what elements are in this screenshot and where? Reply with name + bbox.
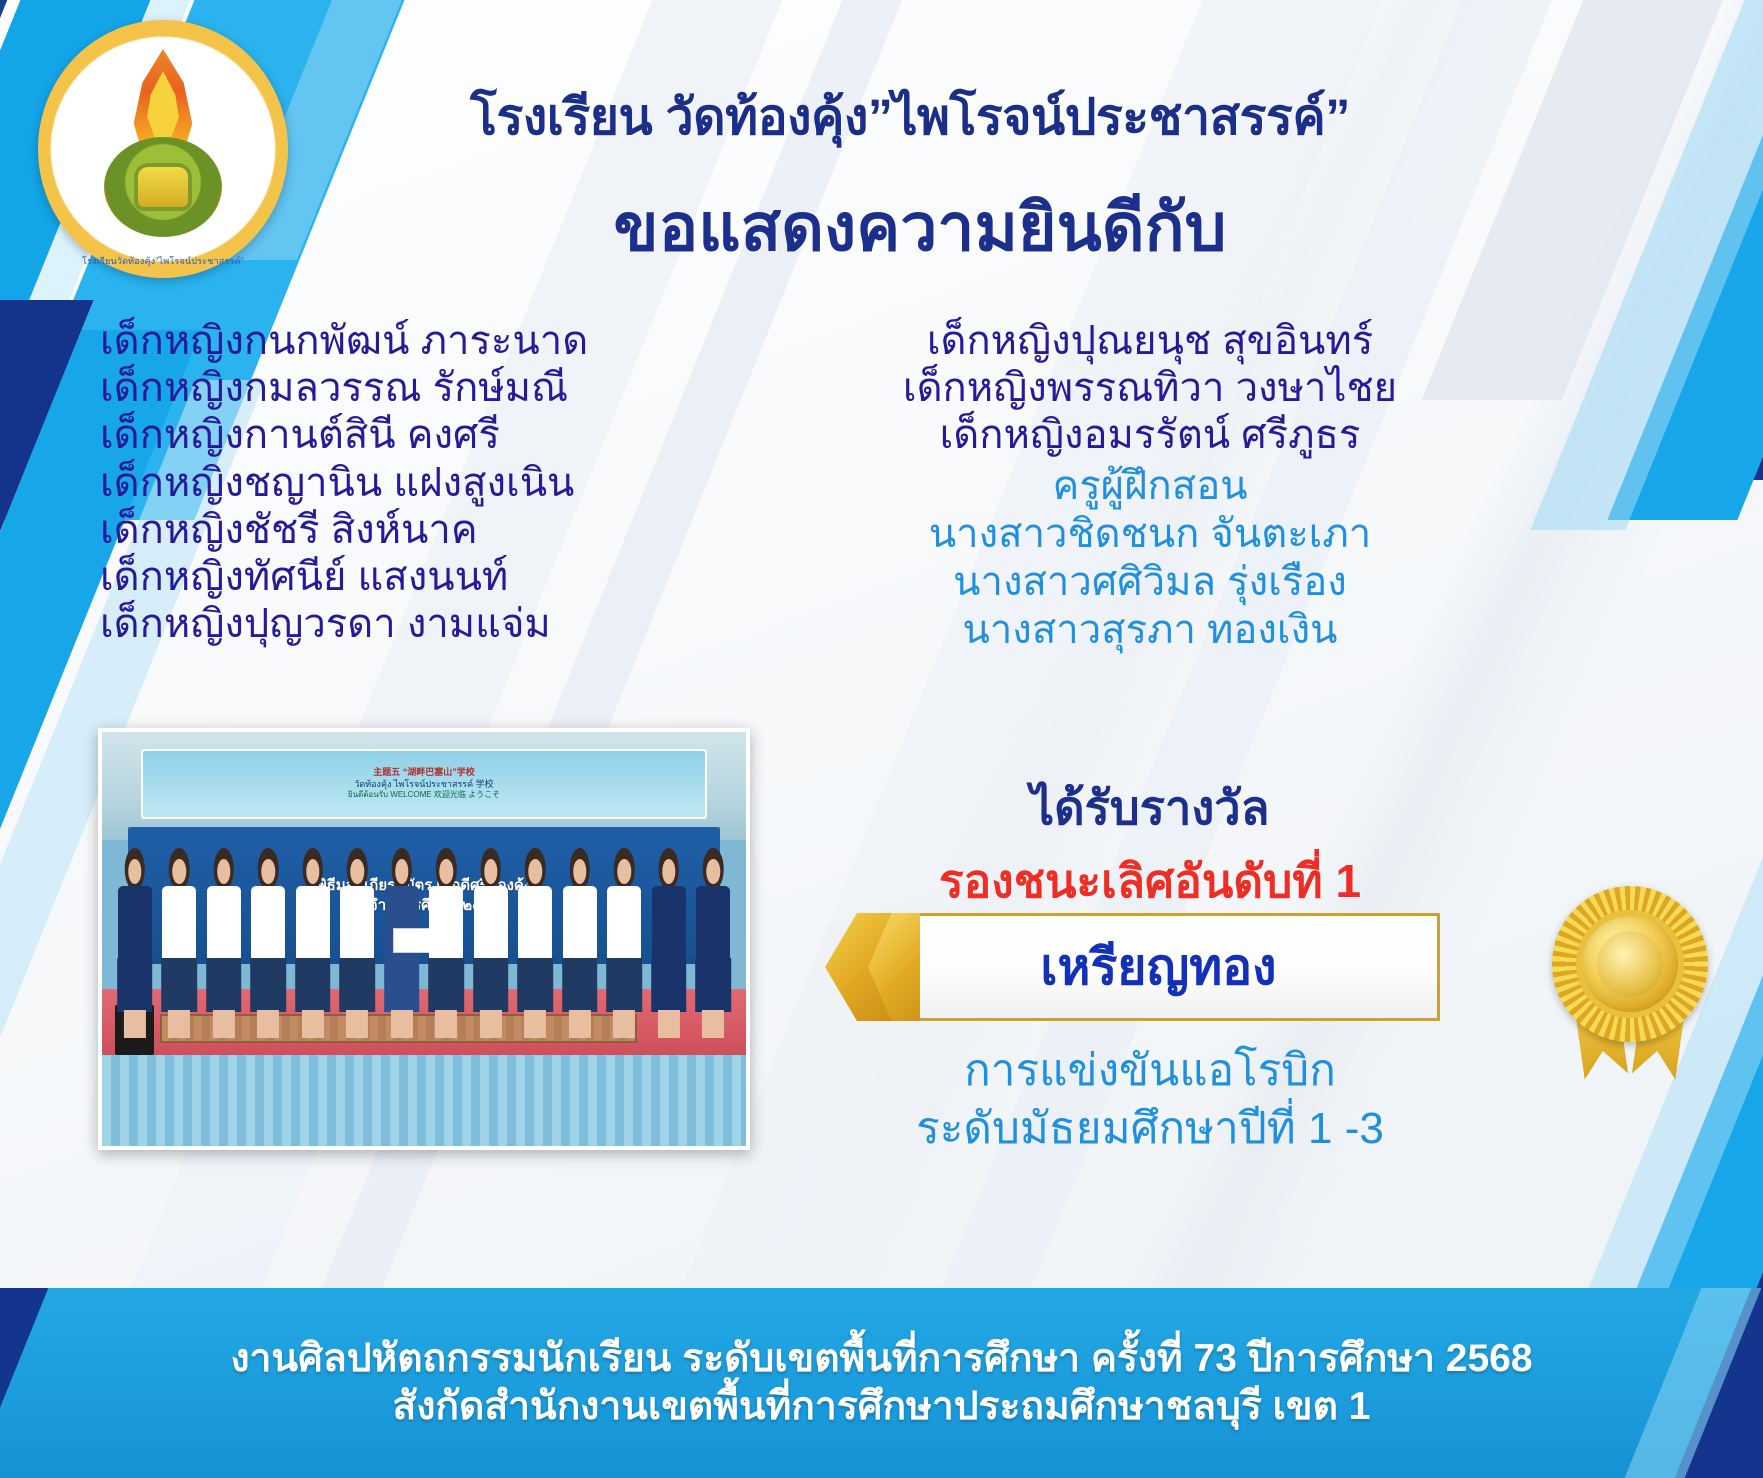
photo-person: [471, 848, 511, 1038]
photo-person: [560, 848, 600, 1038]
footer-banner: งานศิลปหัตถกรรมนักเรียน ระดับเขตพื้นที่ก…: [0, 1288, 1763, 1478]
list-item: เด็กหญิงชญานิน แฝงสูงเนิน: [100, 460, 740, 507]
list-item: เด็กหญิงปุณยนุช สุขอินทร์: [830, 318, 1470, 365]
photo-person: [694, 848, 734, 1038]
photo-person: [204, 848, 244, 1038]
school-name-title: โรงเรียน วัดท้องคุ้ง”ไพโรจน์ประชาสรรค์”: [320, 78, 1500, 157]
list-item: นางสาวชิดชนก จันตะเภา: [830, 510, 1470, 558]
photo-person: [605, 848, 645, 1038]
medal-text: เหรียญทอง: [1040, 928, 1276, 1007]
list-item: เด็กหญิงชัชรี สิงห์นาค: [100, 507, 740, 554]
photo-person: [426, 848, 466, 1038]
award-received-label: ได้รับรางวัล: [830, 770, 1470, 845]
footer-line2: สังกัดสำนักงานเขตพื้นที่การศึกษาประถมศึก…: [393, 1383, 1371, 1431]
photo-person: [159, 848, 199, 1038]
list-item: เด็กหญิงกมลวรรณ รักษ์มณี: [100, 365, 740, 412]
medal-disc: [1576, 910, 1684, 1018]
gold-medal-rosette: [1540, 880, 1720, 1080]
list-item: เด็กหญิงกานต์สินี คงศรี: [100, 412, 740, 459]
medal-rosette-edge: [1552, 886, 1708, 1042]
photo-person: [649, 848, 689, 1038]
photo-welcome-banner: 主题五 “湖畔巴塞山”学校 วัดท้องคุ้ง ไพโรจน์ประชาสร…: [141, 749, 708, 819]
list-item: นางสาวสุรภา ทองเงิน: [830, 606, 1470, 654]
photo-stage-skirt: [102, 1055, 746, 1146]
gold-medal-ribbon-banner: เหรียญทอง: [820, 905, 1520, 1035]
emblem-ring-label: โรงเรียนวัดท้องคุ้ง”ไพโรจน์ประชาสรรค์”: [82, 254, 244, 268]
photo-person: [248, 848, 288, 1038]
photo-banner-line3: ยินดีต้อนรับ WELCOME 欢迎光临 ようこそ: [348, 790, 500, 800]
congratulation-heading: ขอแสดงความยินดีกับ: [330, 175, 1510, 280]
emblem-ring: โรงเรียนวัดท้องคุ้ง”ไพโรจน์ประชาสรรค์”: [38, 20, 288, 278]
photo-people-group: [115, 848, 733, 1038]
list-item: เด็กหญิงอมรรัตน์ ศรีภูธร: [830, 412, 1470, 459]
list-item: เด็กหญิงปุญวรดา งามแจ่ม: [100, 601, 740, 648]
footer-line1: งานศิลปหัตถกรรมนักเรียน ระดับเขตพื้นที่ก…: [230, 1335, 1532, 1383]
photo-person: [515, 848, 555, 1038]
list-item: เด็กหญิงพรรณทิวา วงษาไชย: [830, 365, 1470, 412]
photo-person: [293, 848, 333, 1038]
competition-name-line2: ระดับมัธยมศึกษาปีที่ 1 -3: [830, 1093, 1470, 1163]
student-list-left: เด็กหญิงกนกพัฒน์ ภาระนาด เด็กหญิงกมลวรรณ…: [100, 318, 740, 648]
poster-canvas: โรงเรียนวัดท้องคุ้ง”ไพโรจน์ประชาสรรค์” โ…: [0, 0, 1763, 1478]
list-item: เด็กหญิงทัศนีย์ แสงนนท์: [100, 554, 740, 601]
photo-banner-line2: วัดท้องคุ้ง ไพโรจน์ประชาสรรค์ 学校: [354, 779, 493, 790]
coach-heading: ครูผู้ฝึกสอน: [830, 462, 1470, 510]
medal-disc-center: [1597, 931, 1663, 997]
ceremony-photo: 主题五 “湖畔巴塞山”学校 วัดท้องคุ้ง ไพโรจน์ประชาสร…: [98, 728, 750, 1150]
school-emblem-logo: โรงเรียนวัดท้องคุ้ง”ไพโรจน์ประชาสรรค์”: [38, 20, 288, 278]
list-item: นางสาวศศิวิมล รุ่งเรือง: [830, 558, 1470, 606]
ribbon-body: เหรียญทอง: [880, 913, 1440, 1021]
student-list-right: เด็กหญิงปุณยนุช สุขอินทร์ เด็กหญิงพรรณทิ…: [830, 318, 1470, 654]
photo-person: [115, 848, 155, 1038]
photo-person: [337, 848, 377, 1038]
photo-banner-line1: 主题五 “湖畔巴塞山”学校: [373, 767, 475, 778]
footer-stripe-navy-left: [0, 1288, 48, 1478]
list-item: เด็กหญิงกนกพัฒน์ ภาระนาด: [100, 318, 740, 365]
